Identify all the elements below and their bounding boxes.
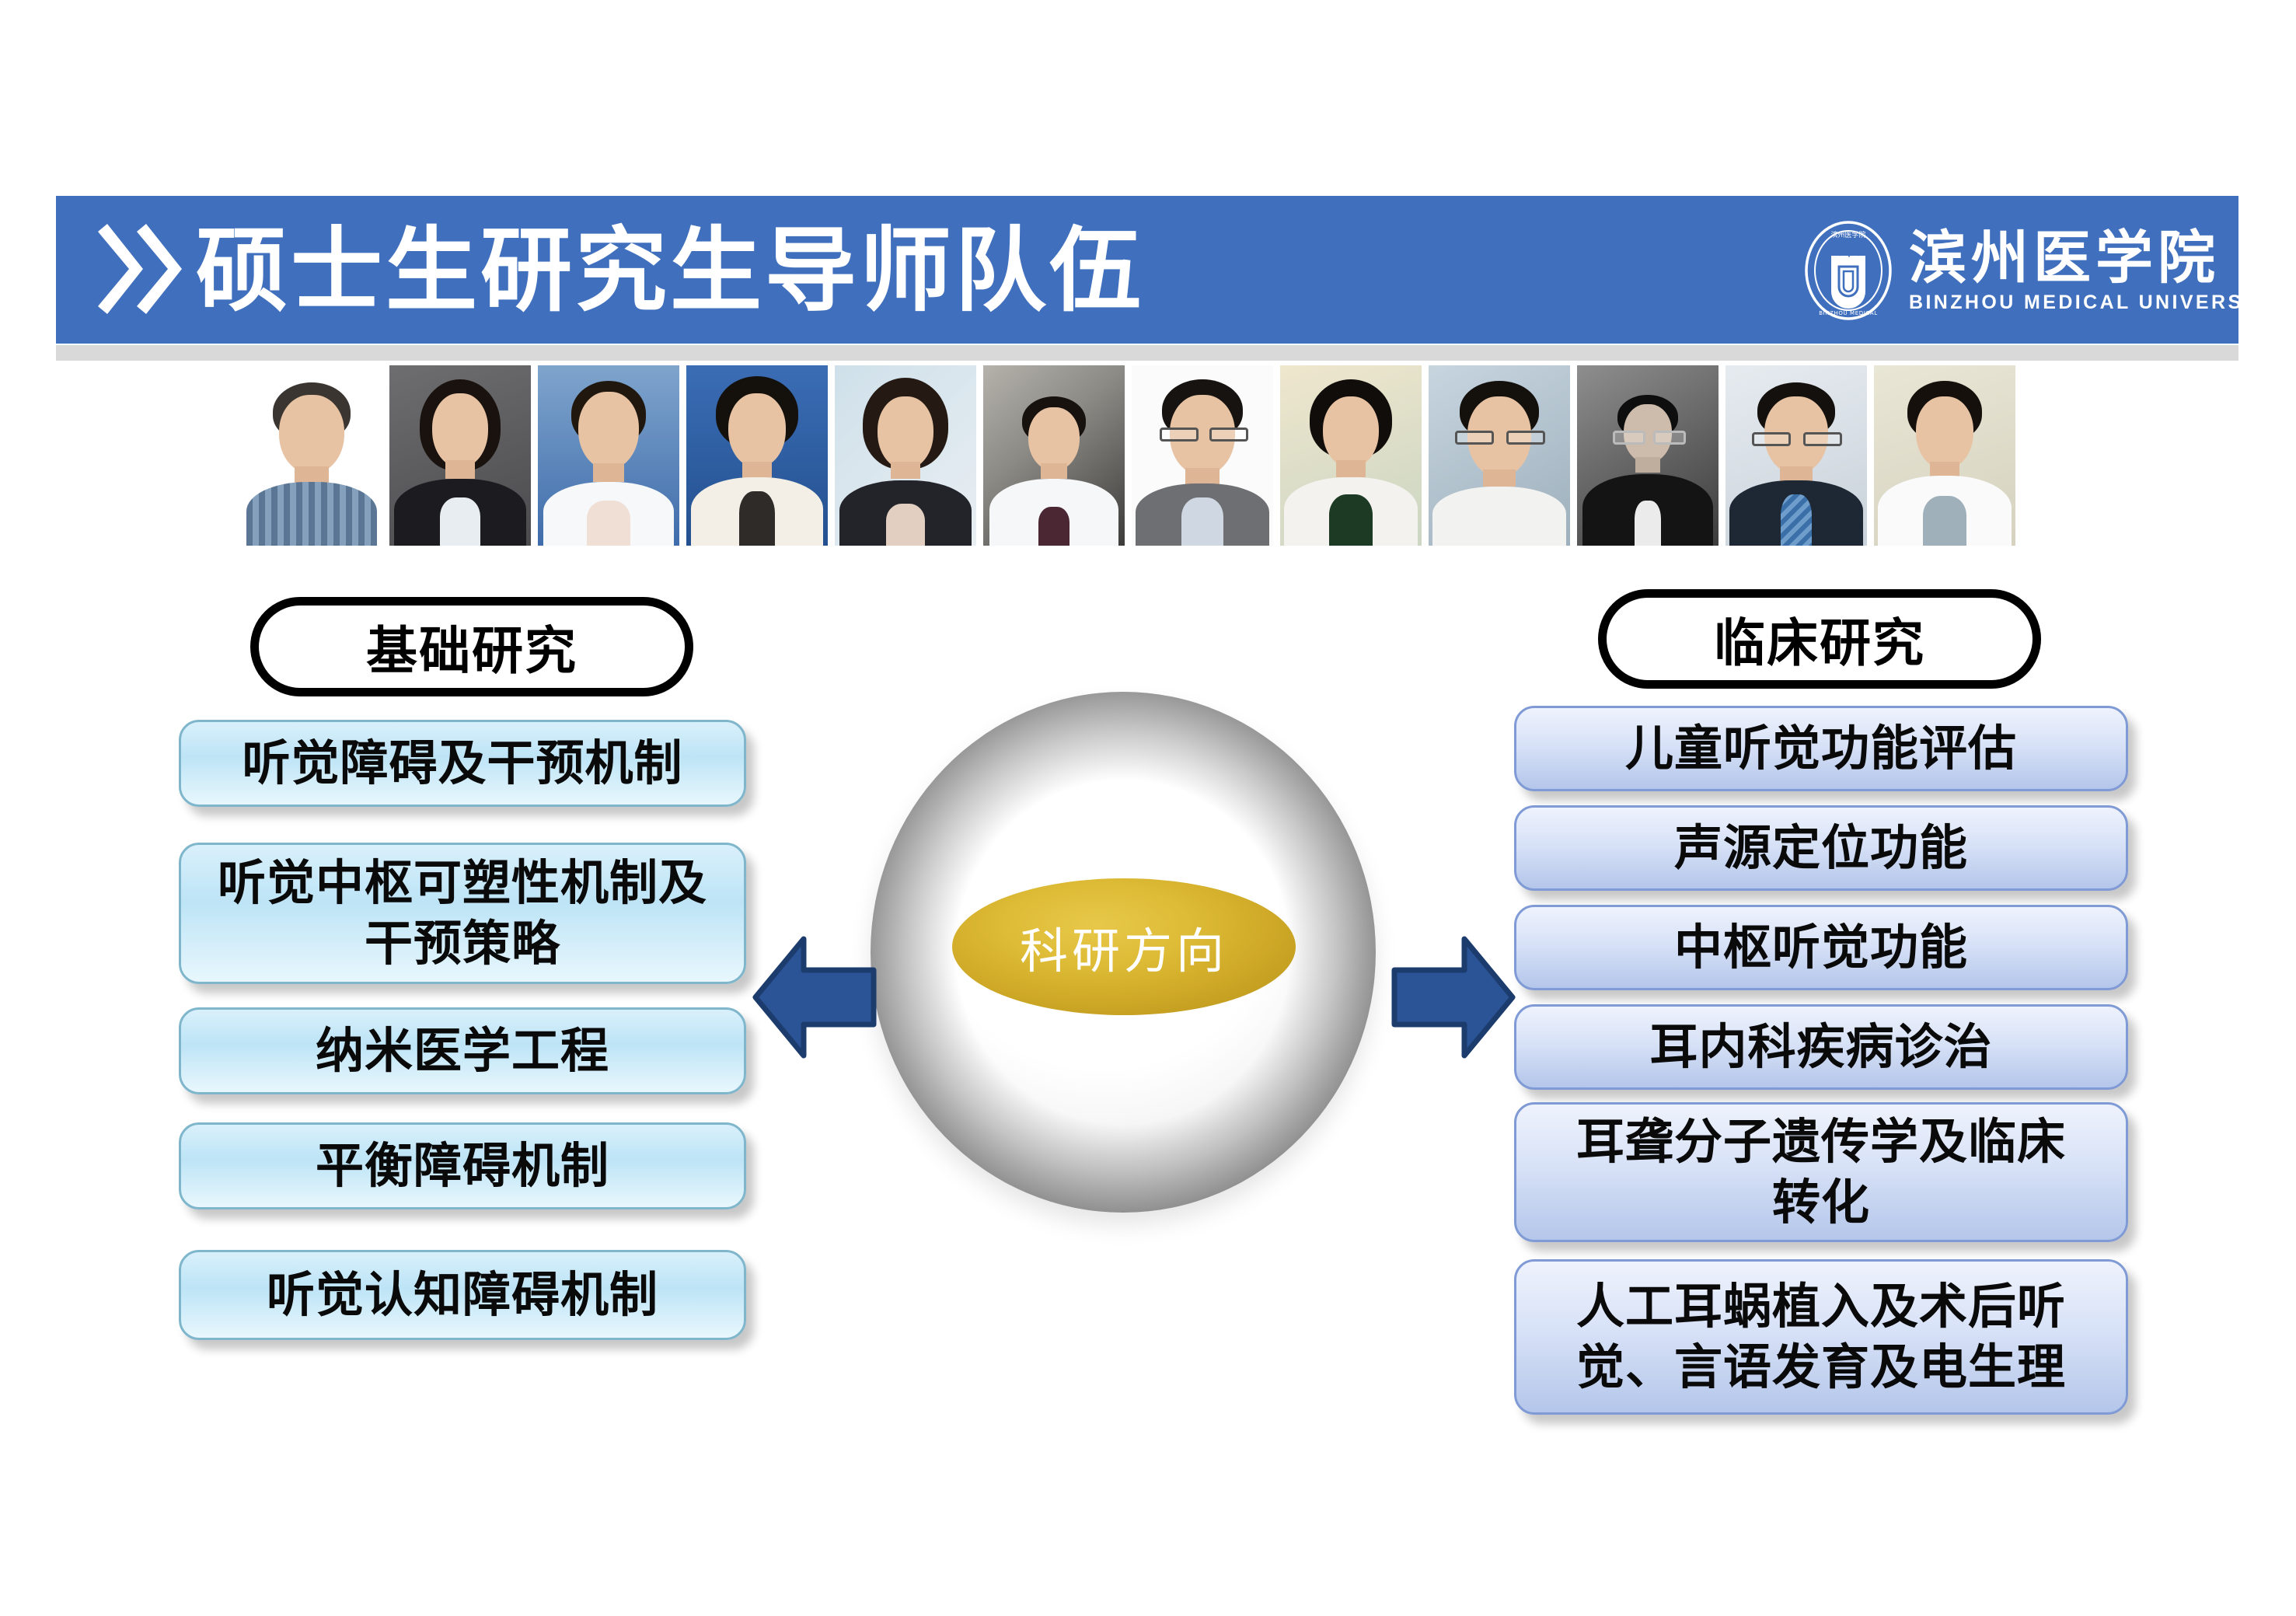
topic-box-clinical-5[interactable]: 耳聋分子遗传学及临床转化 [1514, 1102, 2128, 1242]
faculty-portrait [1725, 365, 1867, 546]
faculty-portrait [538, 365, 679, 546]
topic-box-basic-5[interactable]: 听觉认知障碍机制 [179, 1250, 746, 1340]
topic-box-basic-3[interactable]: 纳米医学工程 [179, 1007, 746, 1094]
arrow-right-icon [1391, 923, 1516, 1071]
faculty-portrait [389, 365, 531, 546]
header-underline-strip [56, 345, 2238, 361]
double-chevron-right-icon [95, 219, 188, 319]
topic-box-clinical-1[interactable]: 儿童听觉功能评估 [1514, 706, 2128, 791]
faculty-portrait [835, 365, 976, 546]
topic-box-clinical-2[interactable]: 声源定位功能 [1514, 805, 2128, 891]
faculty-portrait [1132, 365, 1273, 546]
faculty-portrait [1280, 365, 1422, 546]
section-label-clinical-research: 临床研究 [1598, 589, 2041, 689]
logo-name-cn: 滨州医学院 [1909, 226, 2282, 290]
page-title: 硕士生研究生导师队伍 [196, 208, 1144, 333]
faculty-portrait [686, 365, 828, 546]
topic-box-basic-4[interactable]: 平衡障碍机制 [179, 1122, 746, 1209]
faculty-portrait [1577, 365, 1719, 546]
topic-box-basic-1[interactable]: 听觉障碍及干预机制 [179, 720, 746, 807]
topic-box-clinical-4[interactable]: 耳内科疾病诊治 [1514, 1004, 2128, 1090]
faculty-portrait [1429, 365, 1570, 546]
central-focus-label: 科研方向 [1020, 912, 1228, 982]
topic-box-clinical-6[interactable]: 人工耳蜗植入及术后听觉、言语发育及电生理 [1514, 1259, 2128, 1415]
svg-text:滨州医学院: 滨州医学院 [1830, 230, 1865, 239]
logo-name-en: BINZHOU MEDICAL UNIVERSITY [1909, 290, 2282, 315]
section-label-basic-research: 基础研究 [250, 597, 693, 696]
faculty-portrait [983, 365, 1125, 546]
brand-logo: 滨州医学院 BINZHOU MEDICAL 滨州医学院 BINZHOU MEDI… [1803, 216, 2207, 325]
faculty-portrait [1874, 365, 2015, 546]
topic-box-clinical-3[interactable]: 中枢听觉功能 [1514, 905, 2128, 990]
central-focus-ellipse[interactable]: 科研方向 [952, 878, 1296, 1015]
binzhou-medical-university-seal-icon: 滨州医学院 BINZHOU MEDICAL [1803, 220, 1893, 321]
topic-box-basic-2[interactable]: 听觉中枢可塑性机制及干预策略 [179, 843, 746, 984]
faculty-portrait [241, 365, 382, 546]
svg-text:BINZHOU MEDICAL: BINZHOU MEDICAL [1819, 310, 1878, 316]
faculty-photo-strip [241, 365, 2060, 552]
arrow-left-icon [752, 923, 877, 1071]
